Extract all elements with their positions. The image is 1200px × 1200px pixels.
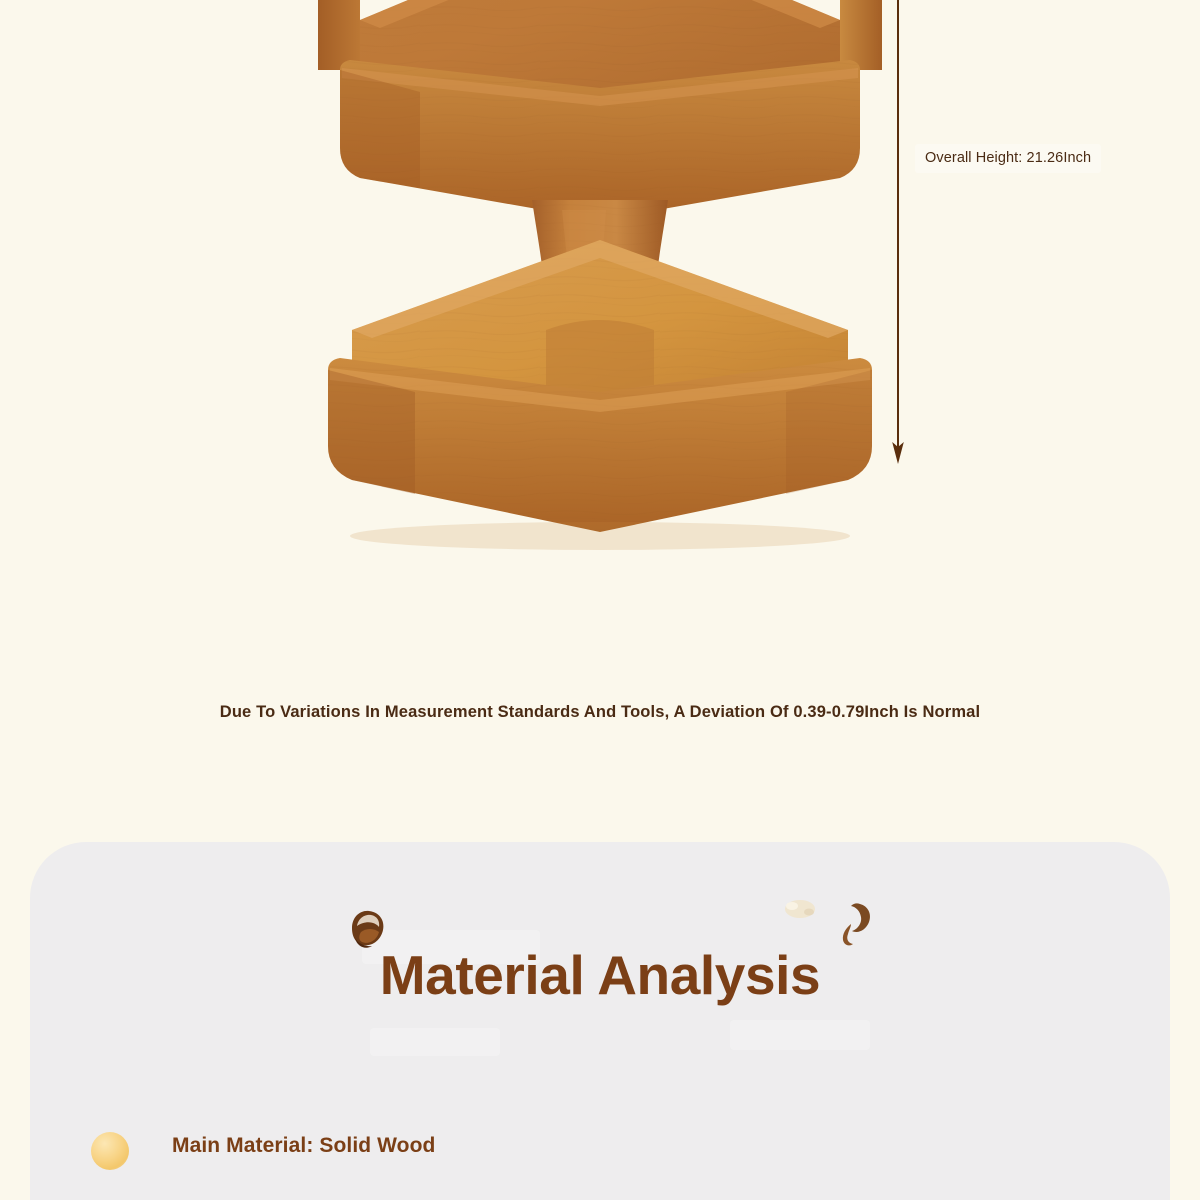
shell-fragment-icon [832, 900, 874, 948]
material-analysis-title: Material Analysis [380, 948, 821, 1003]
measurement-disclaimer: Due To Variations In Measurement Standar… [0, 703, 1200, 722]
material-analysis-section: Material Analysis [30, 842, 1170, 1200]
material-list-item: Main Material: Solid Wood [30, 1132, 1170, 1182]
nut-shell-icon [344, 906, 390, 952]
crumb-icon [782, 896, 822, 922]
dimension-label-overall-height: Overall Height: 21.26Inch [915, 144, 1101, 173]
upper-frame-right-leg [840, 0, 882, 70]
watermark-block [730, 1020, 870, 1050]
material-analysis-title-text: Material Analysis [380, 944, 821, 1006]
material-item-label: Main Material: Solid Wood [172, 1134, 435, 1158]
dimension-line-overall-height [889, 0, 907, 466]
bullet-circle-icon [91, 1132, 129, 1170]
product-image [300, 0, 900, 570]
upper-frame-left-leg [318, 0, 360, 70]
watermark-block [370, 1028, 500, 1056]
specification-section: Overall Height: 21.26Inch Due To Variati… [0, 0, 1200, 842]
product-detail-page: Overall Height: 21.26Inch Due To Variati… [0, 0, 1200, 1200]
material-heading-container: Material Analysis [30, 948, 1170, 1003]
